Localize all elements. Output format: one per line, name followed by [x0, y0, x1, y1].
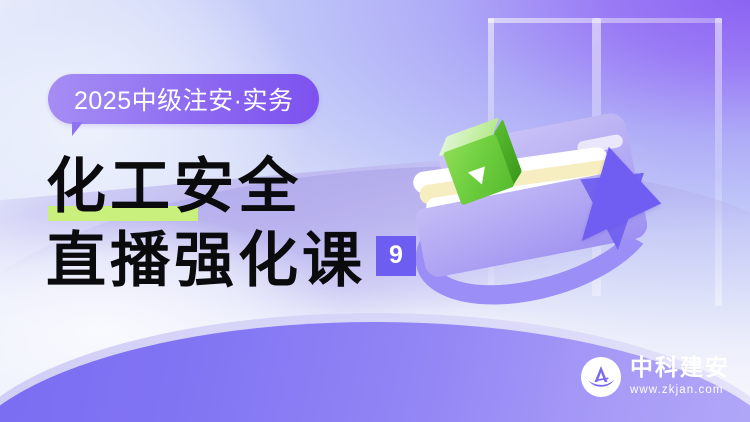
speech-bubble-tail-icon — [72, 122, 94, 136]
course-category-badge-pill[interactable]: 2025中级注安·实务 — [48, 74, 319, 124]
brand-name: 中科建安 — [630, 356, 730, 381]
zkjan-circle-logo-icon — [581, 357, 621, 397]
course-banner-poster: 2025中级注安·实务 化工安全 直播强化课9 中科建安 www.zkjan.c… — [0, 0, 750, 422]
brand-logo-text: 中科建安 www.zkjan.com — [630, 356, 730, 398]
headline-text-1: 化工安全 — [46, 150, 302, 224]
course-category-badge[interactable]: 2025中级注安·实务 — [48, 74, 319, 124]
brand-url: www.zkjan.com — [630, 383, 730, 398]
headline-line-1: 化工安全 — [46, 150, 476, 224]
headline-line-2: 直播强化课9 — [46, 224, 476, 298]
pillar-top-rail — [488, 18, 722, 23]
headline-text-2: 直播强化课 — [46, 224, 366, 298]
page-title: 化工安全 直播强化课9 — [46, 150, 476, 298]
course-category-badge-label: 2025中级注安·实务 — [74, 81, 293, 117]
brand-logo[interactable]: 中科建安 www.zkjan.com — [581, 356, 730, 398]
episode-number-badge: 9 — [376, 236, 416, 276]
